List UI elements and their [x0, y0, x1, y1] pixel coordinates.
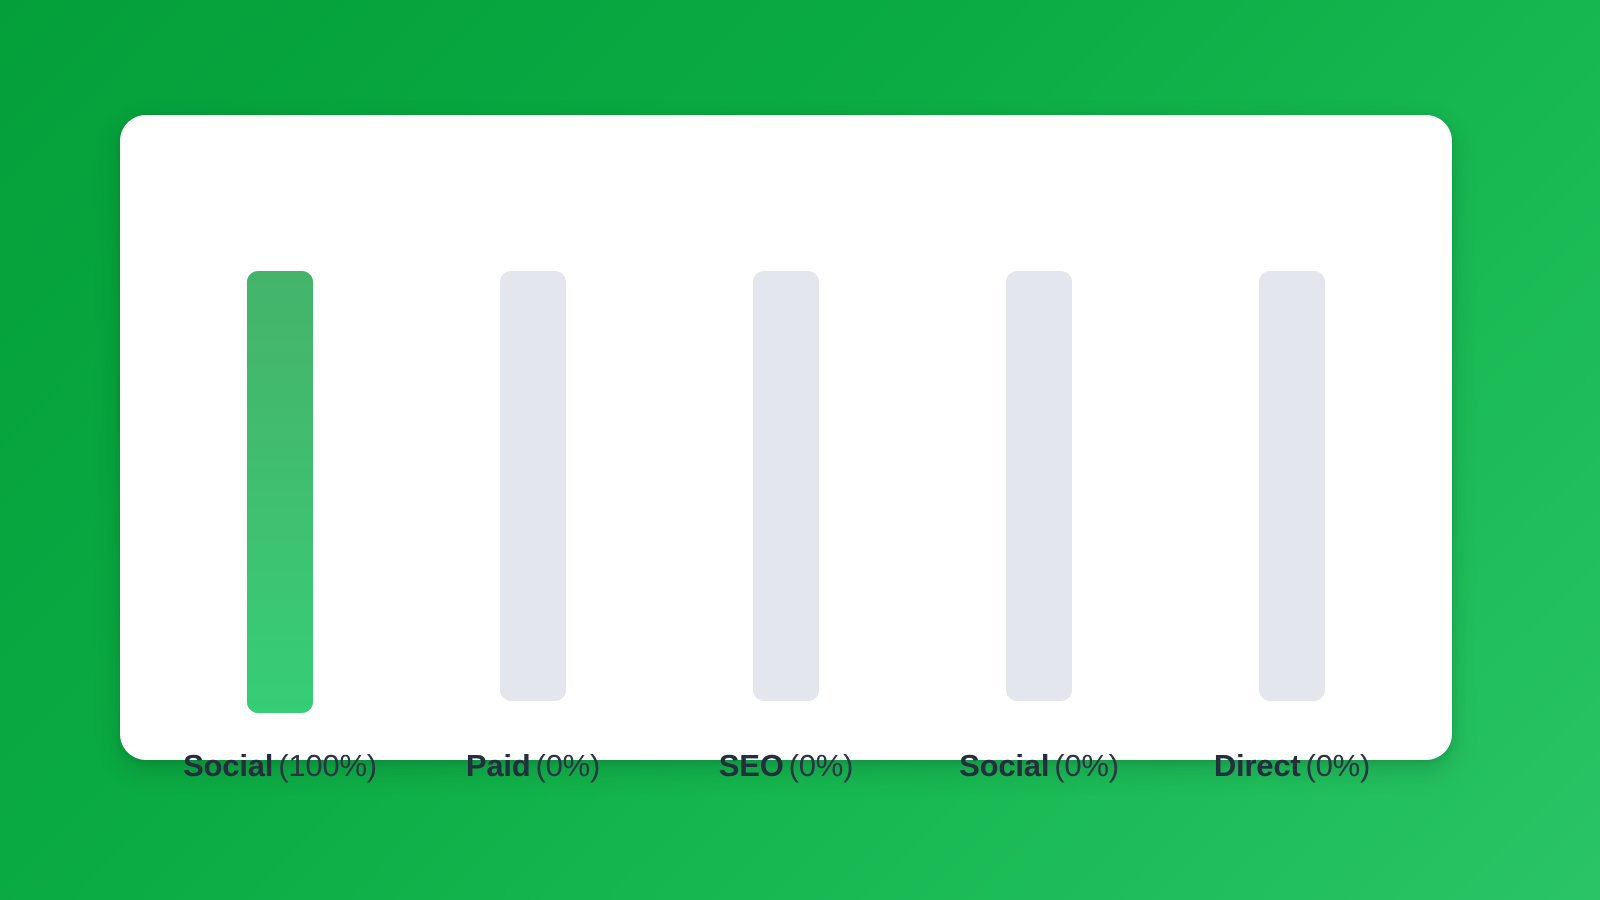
bar-column-5[interactable]: Direct(0%) [1259, 191, 1325, 701]
bar-fill-1 [247, 271, 313, 713]
bar-value-2: (0%) [536, 748, 601, 783]
bar-track-2 [500, 271, 566, 701]
bar-value-1: (100%) [278, 748, 377, 783]
bar-label-5: Direct(0%) [1214, 747, 1370, 785]
bar-value-3: (0%) [789, 748, 854, 783]
bar-category-2: Paid [466, 748, 531, 783]
bar-column-1[interactable]: Social(100%) [247, 191, 313, 701]
bar-label-1: Social(100%) [183, 747, 377, 785]
page-background: Social(100%) Paid(0%) SEO(0%) [0, 0, 1600, 900]
bar-label-3: SEO(0%) [719, 747, 854, 785]
bar-value-5: (0%) [1306, 748, 1371, 783]
bar-track-1 [247, 271, 313, 701]
bar-value-4: (0%) [1054, 748, 1119, 783]
bar-column-2[interactable]: Paid(0%) [500, 191, 566, 701]
bar-column-4[interactable]: Social(0%) [1006, 191, 1072, 701]
bar-category-5: Direct [1214, 748, 1301, 783]
bar-category-4: Social [959, 748, 1049, 783]
bar-category-1: Social [183, 748, 273, 783]
bar-track-5 [1259, 271, 1325, 701]
bar-track-4 [1006, 271, 1072, 701]
bar-track-3 [753, 271, 819, 701]
bar-category-3: SEO [719, 748, 784, 783]
bar-column-3[interactable]: SEO(0%) [753, 191, 819, 701]
bar-label-4: Social(0%) [959, 747, 1119, 785]
bar-chart: Social(100%) Paid(0%) SEO(0%) [120, 115, 1452, 760]
bar-label-2: Paid(0%) [466, 747, 600, 785]
chart-card: Social(100%) Paid(0%) SEO(0%) [120, 115, 1452, 760]
